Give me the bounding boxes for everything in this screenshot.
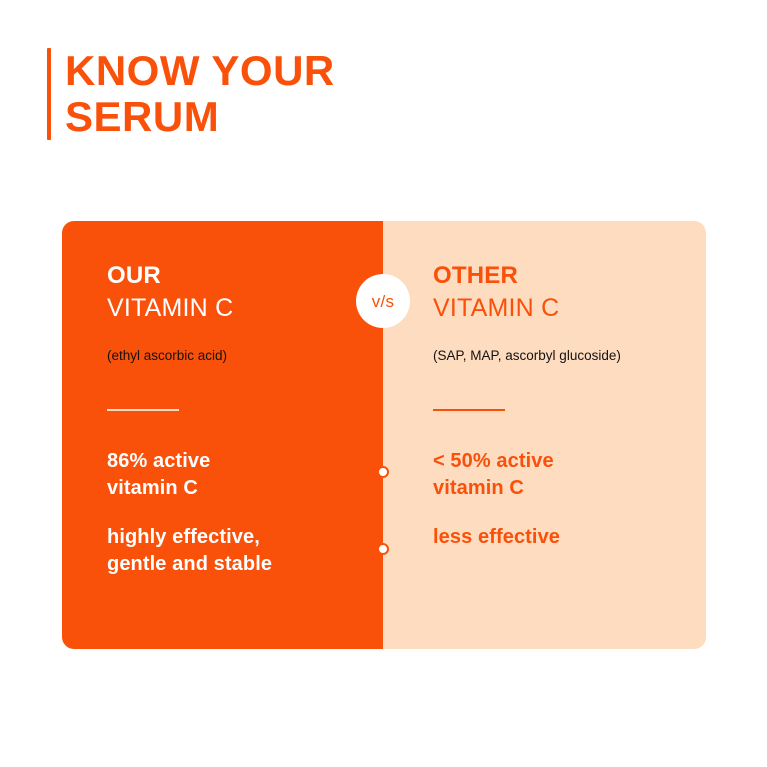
ours-title: VITAMIN C: [107, 293, 383, 324]
versus-badge-label: v/s: [372, 293, 395, 310]
page-heading: KNOW YOUR SERUM: [47, 48, 335, 140]
ours-divider-rule: [107, 409, 179, 411]
other-divider-rule: [433, 409, 505, 411]
other-kicker: OTHER: [433, 262, 706, 290]
other-benefit-list: < 50% active vitamin C less effective: [433, 448, 706, 551]
ours-kicker: OUR: [107, 262, 383, 290]
list-item: less effective: [433, 524, 706, 551]
list-item: highly effective, gentle and stable: [107, 524, 383, 578]
ours-subtitle: (ethyl ascorbic acid): [107, 347, 383, 364]
divider-dot-icon: [377, 543, 389, 555]
versus-badge: v/s: [356, 274, 410, 328]
panel-other-vitamin-c: OTHER VITAMIN C (SAP, MAP, ascorbyl gluc…: [383, 221, 706, 649]
heading-accent-bar: [47, 48, 51, 140]
other-title: VITAMIN C: [433, 293, 706, 324]
list-item: < 50% active vitamin C: [433, 448, 706, 502]
divider-dot-icon: [377, 466, 389, 478]
ours-benefit-list: 86% active vitamin C highly effective, g…: [107, 448, 383, 578]
panel-our-vitamin-c: OUR VITAMIN C (ethyl ascorbic acid) 86% …: [62, 221, 383, 649]
page-title: KNOW YOUR SERUM: [65, 48, 335, 140]
list-item: 86% active vitamin C: [107, 448, 383, 502]
other-subtitle: (SAP, MAP, ascorbyl glucoside): [433, 347, 706, 364]
